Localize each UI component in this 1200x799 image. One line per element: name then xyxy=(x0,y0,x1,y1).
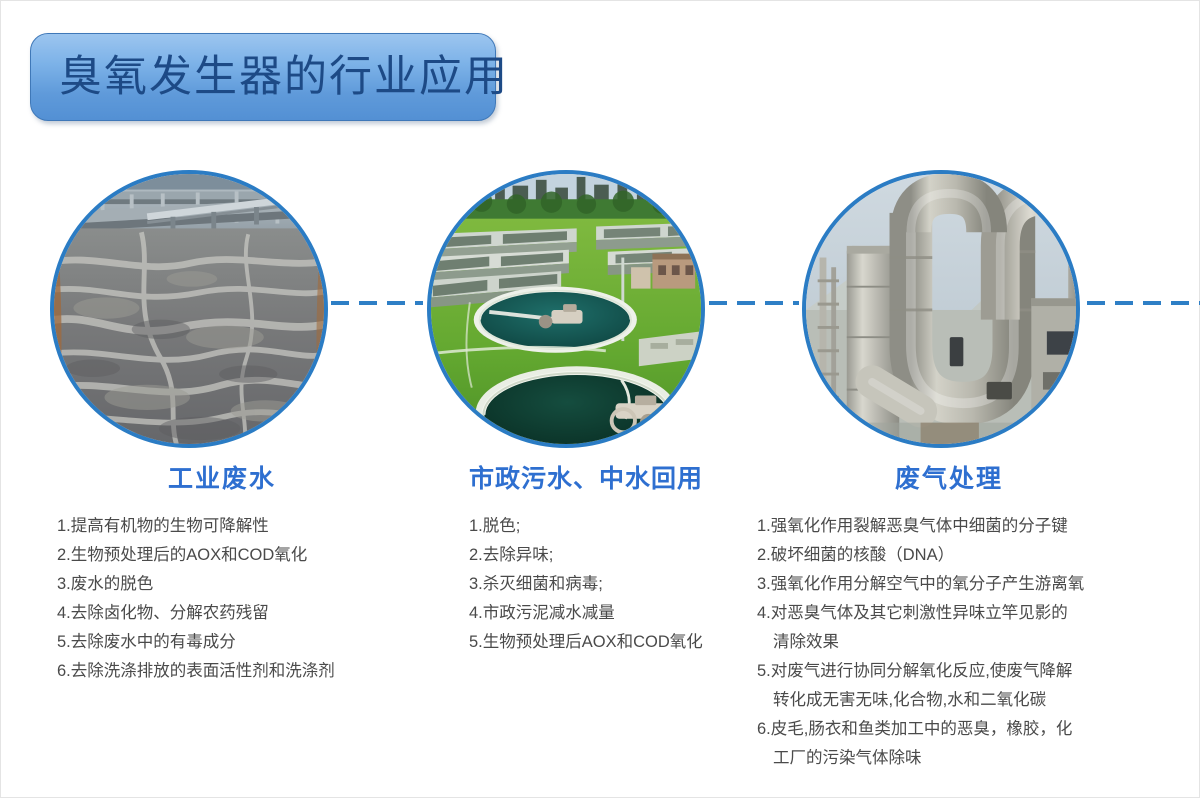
list-item: 4.去除卤化物、分解农药残留 xyxy=(37,599,407,628)
list-item-subline: 工厂的污染气体除味 xyxy=(757,744,1149,773)
item-list-municipal-sewage: 1.脱色; 2.去除异味; 3.杀灭细菌和病毒; 4.市政污泥减水减量 5.生物… xyxy=(421,512,751,657)
list-item: 3.废水的脱色 xyxy=(37,570,407,599)
column-industrial-wastewater: 工业废水 1.提高有机物的生物可降解性 2.生物预处理后的AOX和COD氧化 3… xyxy=(37,466,407,686)
list-item-text: 6.去除洗涤排放的表面活性剂和洗涤剂 xyxy=(57,662,335,680)
list-item-text: 2.破坏细菌的核酸（DNA） xyxy=(757,546,954,564)
list-item: 5.对废气进行协同分解氧化反应,使废气降解 转化成无害无味,化合物,水和二氧化碳 xyxy=(749,657,1149,715)
list-item-text: 2.生物预处理后的AOX和COD氧化 xyxy=(57,546,307,564)
list-item: 3.强氧化作用分解空气中的氧分子产生游离氧 xyxy=(749,570,1149,599)
list-item: 6.皮毛,肠衣和鱼类加工中的恶臭，橡胶，化 工厂的污染气体除味 xyxy=(749,715,1149,773)
list-item-text: 3.强氧化作用分解空气中的氧分子产生游离氧 xyxy=(757,575,1084,593)
list-item-text: 4.对恶臭气体及其它刺激性异味立竿见影的 xyxy=(757,604,1068,622)
item-list-waste-gas: 1.强氧化作用裂解恶臭气体中细菌的分子键 2.破坏细菌的核酸（DNA） 3.强氧… xyxy=(749,512,1149,773)
list-item: 3.杀灭细菌和病毒; xyxy=(421,570,751,599)
list-item: 2.破坏细菌的核酸（DNA） xyxy=(749,541,1149,570)
list-item: 5.去除废水中的有毒成分 xyxy=(37,628,407,657)
list-item-text: 2.去除异味; xyxy=(469,546,553,564)
circle-image-waste-gas xyxy=(802,170,1080,448)
list-item-subline: 转化成无害无味,化合物,水和二氧化碳 xyxy=(757,686,1149,715)
slide-canvas: 臭氧发生器的行业应用 xyxy=(1,1,1200,799)
column-municipal-sewage: 市政污水、中水回用 1.脱色; 2.去除异味; 3.杀灭细菌和病毒; 4.市政污… xyxy=(421,466,751,657)
list-item: 1.强氧化作用裂解恶臭气体中细菌的分子键 xyxy=(749,512,1149,541)
list-item-text: 6.皮毛,肠衣和鱼类加工中的恶臭，橡胶，化 xyxy=(757,720,1072,738)
list-item: 4.市政污泥减水减量 xyxy=(421,599,751,628)
column-heading-municipal-sewage: 市政污水、中水回用 xyxy=(421,466,751,494)
list-item-text: 1.脱色; xyxy=(469,517,520,535)
list-item-text: 5.去除废水中的有毒成分 xyxy=(57,633,236,651)
column-waste-gas: 废气处理 1.强氧化作用裂解恶臭气体中细菌的分子键 2.破坏细菌的核酸（DNA）… xyxy=(749,466,1149,773)
connector-dashed-line-3 xyxy=(1087,301,1200,305)
list-item-text: 4.去除卤化物、分解农药残留 xyxy=(57,604,269,622)
list-item: 6.去除洗涤排放的表面活性剂和洗涤剂 xyxy=(37,657,407,686)
circle-image-industrial-wastewater xyxy=(50,170,328,448)
list-item: 2.生物预处理后的AOX和COD氧化 xyxy=(37,541,407,570)
industrial-wastewater-illustration xyxy=(54,174,324,444)
connector-dashed-line-1 xyxy=(331,301,423,305)
list-item-text: 5.对废气进行协同分解氧化反应,使废气降解 xyxy=(757,662,1072,680)
circle-image-municipal-sewage xyxy=(427,170,705,448)
list-item: 1.提高有机物的生物可降解性 xyxy=(37,512,407,541)
connector-dashed-line-2 xyxy=(709,301,799,305)
list-item-text: 5.生物预处理后AOX和COD氧化 xyxy=(469,633,703,651)
page-title: 臭氧发生器的行业应用 xyxy=(59,56,509,99)
list-item: 4.对恶臭气体及其它刺激性异味立竿见影的 清除效果 xyxy=(749,599,1149,657)
list-item-text: 1.强氧化作用裂解恶臭气体中细菌的分子键 xyxy=(757,517,1068,535)
item-list-industrial-wastewater: 1.提高有机物的生物可降解性 2.生物预处理后的AOX和COD氧化 3.废水的脱… xyxy=(37,512,407,686)
list-item-text: 4.市政污泥减水减量 xyxy=(469,604,615,622)
list-item-text: 3.杀灭细菌和病毒; xyxy=(469,575,603,593)
column-heading-waste-gas: 废气处理 xyxy=(749,466,1149,494)
municipal-sewage-illustration xyxy=(431,174,701,444)
waste-gas-illustration xyxy=(806,174,1076,444)
list-item-text: 1.提高有机物的生物可降解性 xyxy=(57,517,269,535)
column-heading-industrial-wastewater: 工业废水 xyxy=(37,466,407,494)
list-item-subline: 清除效果 xyxy=(757,628,1149,657)
list-item: 1.脱色; xyxy=(421,512,751,541)
title-banner: 臭氧发生器的行业应用 xyxy=(30,33,496,121)
list-item: 2.去除异味; xyxy=(421,541,751,570)
list-item-text: 3.废水的脱色 xyxy=(57,575,153,593)
list-item: 5.生物预处理后AOX和COD氧化 xyxy=(421,628,751,657)
